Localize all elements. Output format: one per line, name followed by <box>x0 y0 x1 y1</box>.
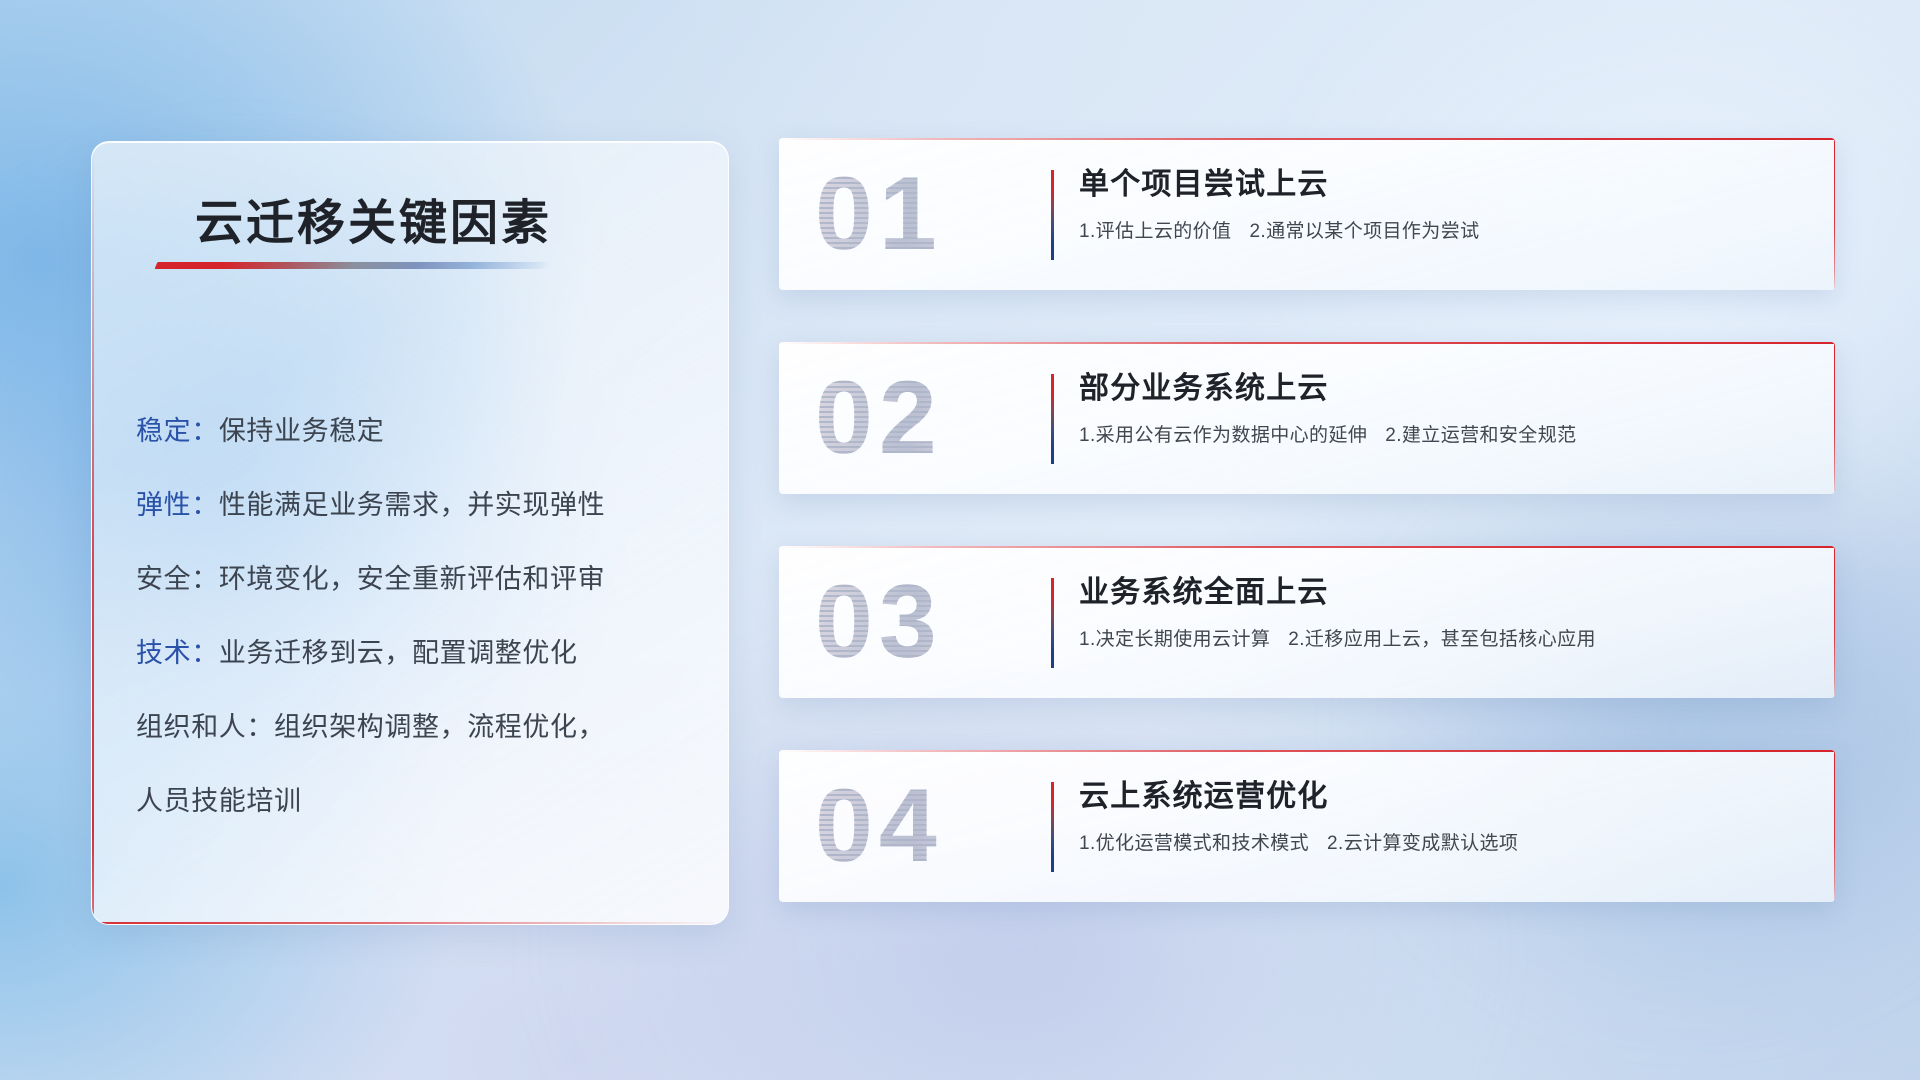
stage-card[interactable]: 04 04 云上系统运营优化 1.优化运营模式和技术模式2.云计算变成默认选项 <box>779 750 1835 902</box>
stage-card-list: 01 01 单个项目尝试上云 1.评估上云的价值2.通常以某个项目作为尝试 02… <box>779 138 1835 954</box>
card-title: 单个项目尝试上云 <box>1079 164 1805 206</box>
stage-number: 04 <box>815 764 1030 888</box>
card-description: 1.决定长期使用云计算2.迁移应用上云，甚至包括核心应用 <box>1079 626 1805 654</box>
stage-number: 03 <box>815 560 1030 684</box>
card-body: 业务系统全面上云 1.决定长期使用云计算2.迁移应用上云，甚至包括核心应用 <box>1079 572 1805 654</box>
card-desc-item: 2.通常以某个项目作为尝试 <box>1249 221 1479 242</box>
card-desc-item: 2.云计算变成默认选项 <box>1327 833 1518 854</box>
factor-key: 技术： <box>136 638 219 668</box>
card-desc-item: 1.优化运营模式和技术模式 <box>1079 833 1309 854</box>
card-description: 1.采用公有云作为数据中心的延伸2.建立运营和安全规范 <box>1079 422 1805 450</box>
factor-row: 技术：业务迁移到云，配置调整优化 <box>136 616 684 690</box>
factor-row: 组织和人：组织架构调整，流程优化， <box>136 690 684 764</box>
card-description: 1.优化运营模式和技术模式2.云计算变成默认选项 <box>1079 830 1805 858</box>
slide-stage: 云迁移关键因素 稳定：保持业务稳定 弹性：性能满足业务需求，并实现弹性 安全：环… <box>0 0 1920 1080</box>
key-factors-panel: 云迁移关键因素 稳定：保持业务稳定 弹性：性能满足业务需求，并实现弹性 安全：环… <box>91 141 729 925</box>
factor-value: 人员技能培训 <box>136 786 302 816</box>
stage-card[interactable]: 03 03 业务系统全面上云 1.决定长期使用云计算2.迁移应用上云，甚至包括核… <box>779 546 1835 698</box>
factor-value: 业务迁移到云，配置调整优化 <box>219 638 578 668</box>
card-desc-item: 1.采用公有云作为数据中心的延伸 <box>1079 425 1367 446</box>
stage-card[interactable]: 02 02 部分业务系统上云 1.采用公有云作为数据中心的延伸2.建立运营和安全… <box>779 342 1835 494</box>
factor-list: 稳定：保持业务稳定 弹性：性能满足业务需求，并实现弹性 安全：环境变化，安全重新… <box>92 394 728 838</box>
card-body: 部分业务系统上云 1.采用公有云作为数据中心的延伸2.建立运营和安全规范 <box>1079 368 1805 450</box>
factor-row: 弹性：性能满足业务需求，并实现弹性 <box>136 468 684 542</box>
card-divider-accent <box>1051 170 1054 260</box>
factor-row: 稳定：保持业务稳定 <box>136 394 684 468</box>
card-desc-item: 1.评估上云的价值 <box>1079 221 1231 242</box>
card-title: 部分业务系统上云 <box>1079 368 1805 410</box>
card-description: 1.评估上云的价值2.通常以某个项目作为尝试 <box>1079 218 1805 246</box>
stage-number: 02 <box>815 356 1030 480</box>
factor-key: 安全： <box>136 564 219 594</box>
card-divider-accent <box>1051 374 1054 464</box>
card-divider-accent <box>1051 578 1054 668</box>
factor-row: 安全：环境变化，安全重新评估和评审 <box>136 542 684 616</box>
factor-value: 保持业务稳定 <box>219 416 385 446</box>
card-body: 云上系统运营优化 1.优化运营模式和技术模式2.云计算变成默认选项 <box>1079 776 1805 858</box>
factor-key: 组织和人： <box>136 712 274 742</box>
card-desc-item: 2.建立运营和安全规范 <box>1385 425 1576 446</box>
factor-row-continuation: 人员技能培训 <box>136 764 684 838</box>
card-desc-item: 1.决定长期使用云计算 <box>1079 629 1270 650</box>
factor-value: 环境变化，安全重新评估和评审 <box>219 564 605 594</box>
stage-number: 01 <box>815 152 1030 276</box>
card-title: 云上系统运营优化 <box>1079 776 1805 818</box>
factor-value: 组织架构调整，流程优化， <box>274 712 605 742</box>
card-divider-accent <box>1051 782 1054 872</box>
card-body: 单个项目尝试上云 1.评估上云的价值2.通常以某个项目作为尝试 <box>1079 164 1805 246</box>
factor-value: 性能满足业务需求，并实现弹性 <box>219 490 605 520</box>
factor-key: 稳定： <box>136 416 219 446</box>
card-title: 业务系统全面上云 <box>1079 572 1805 614</box>
stage-card[interactable]: 01 01 单个项目尝试上云 1.评估上云的价值2.通常以某个项目作为尝试 <box>779 138 1835 290</box>
page-title: 云迁移关键因素 <box>195 183 552 253</box>
title-underline-accent <box>155 262 552 269</box>
factor-key: 弹性： <box>136 490 219 520</box>
card-desc-item: 2.迁移应用上云，甚至包括核心应用 <box>1288 629 1596 650</box>
